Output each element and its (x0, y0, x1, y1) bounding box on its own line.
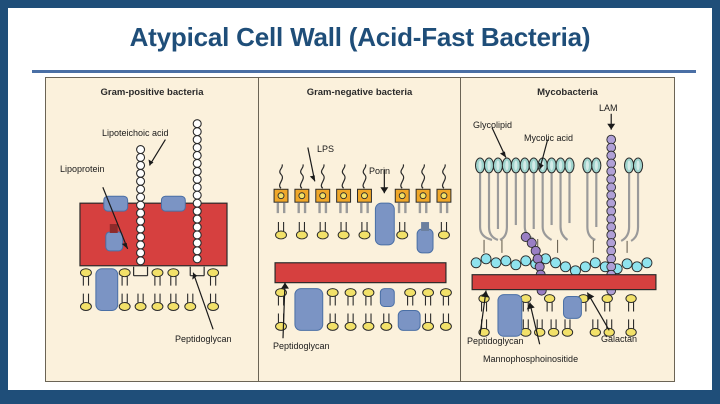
label-lipoteichoic-acid: Lipoteichoic acid (102, 128, 169, 138)
slide-frame: Atypical Cell Wall (Acid-Fast Bacteria) … (0, 0, 720, 404)
title-divider (32, 70, 696, 73)
gram-negative-artwork (259, 78, 460, 381)
slide-canvas: Atypical Cell Wall (Acid-Fast Bacteria) … (8, 8, 712, 390)
page-title: Atypical Cell Wall (Acid-Fast Bacteria) (8, 22, 712, 53)
label-peptidoglycan-gn: Peptidoglycan (273, 341, 330, 351)
panel-gram-negative: Gram-negative bacteria (259, 78, 461, 381)
label-lps: LPS (317, 144, 334, 154)
label-glycolipid: Glycolipid (473, 120, 512, 130)
label-mannophosphoinositide: Mannophosphoinositide (483, 354, 578, 364)
label-peptidoglycan-my: Peptidoglycan (467, 336, 524, 346)
label-galactan: Galactan (601, 334, 637, 344)
panel-gram-positive: Gram-positive bacteria (46, 78, 259, 381)
label-porin: Porin (369, 166, 390, 176)
label-lam: LAM (599, 103, 618, 113)
cell-wall-figure: Gram-positive bacteria (45, 77, 675, 382)
label-lipoprotein: Lipoprotein (60, 164, 105, 174)
panel-mycobacteria: Mycobacteria (461, 78, 674, 381)
label-peptidoglycan-gp: Peptidoglycan (175, 334, 232, 344)
label-mycolic-acid: Mycolic acid (524, 133, 573, 143)
